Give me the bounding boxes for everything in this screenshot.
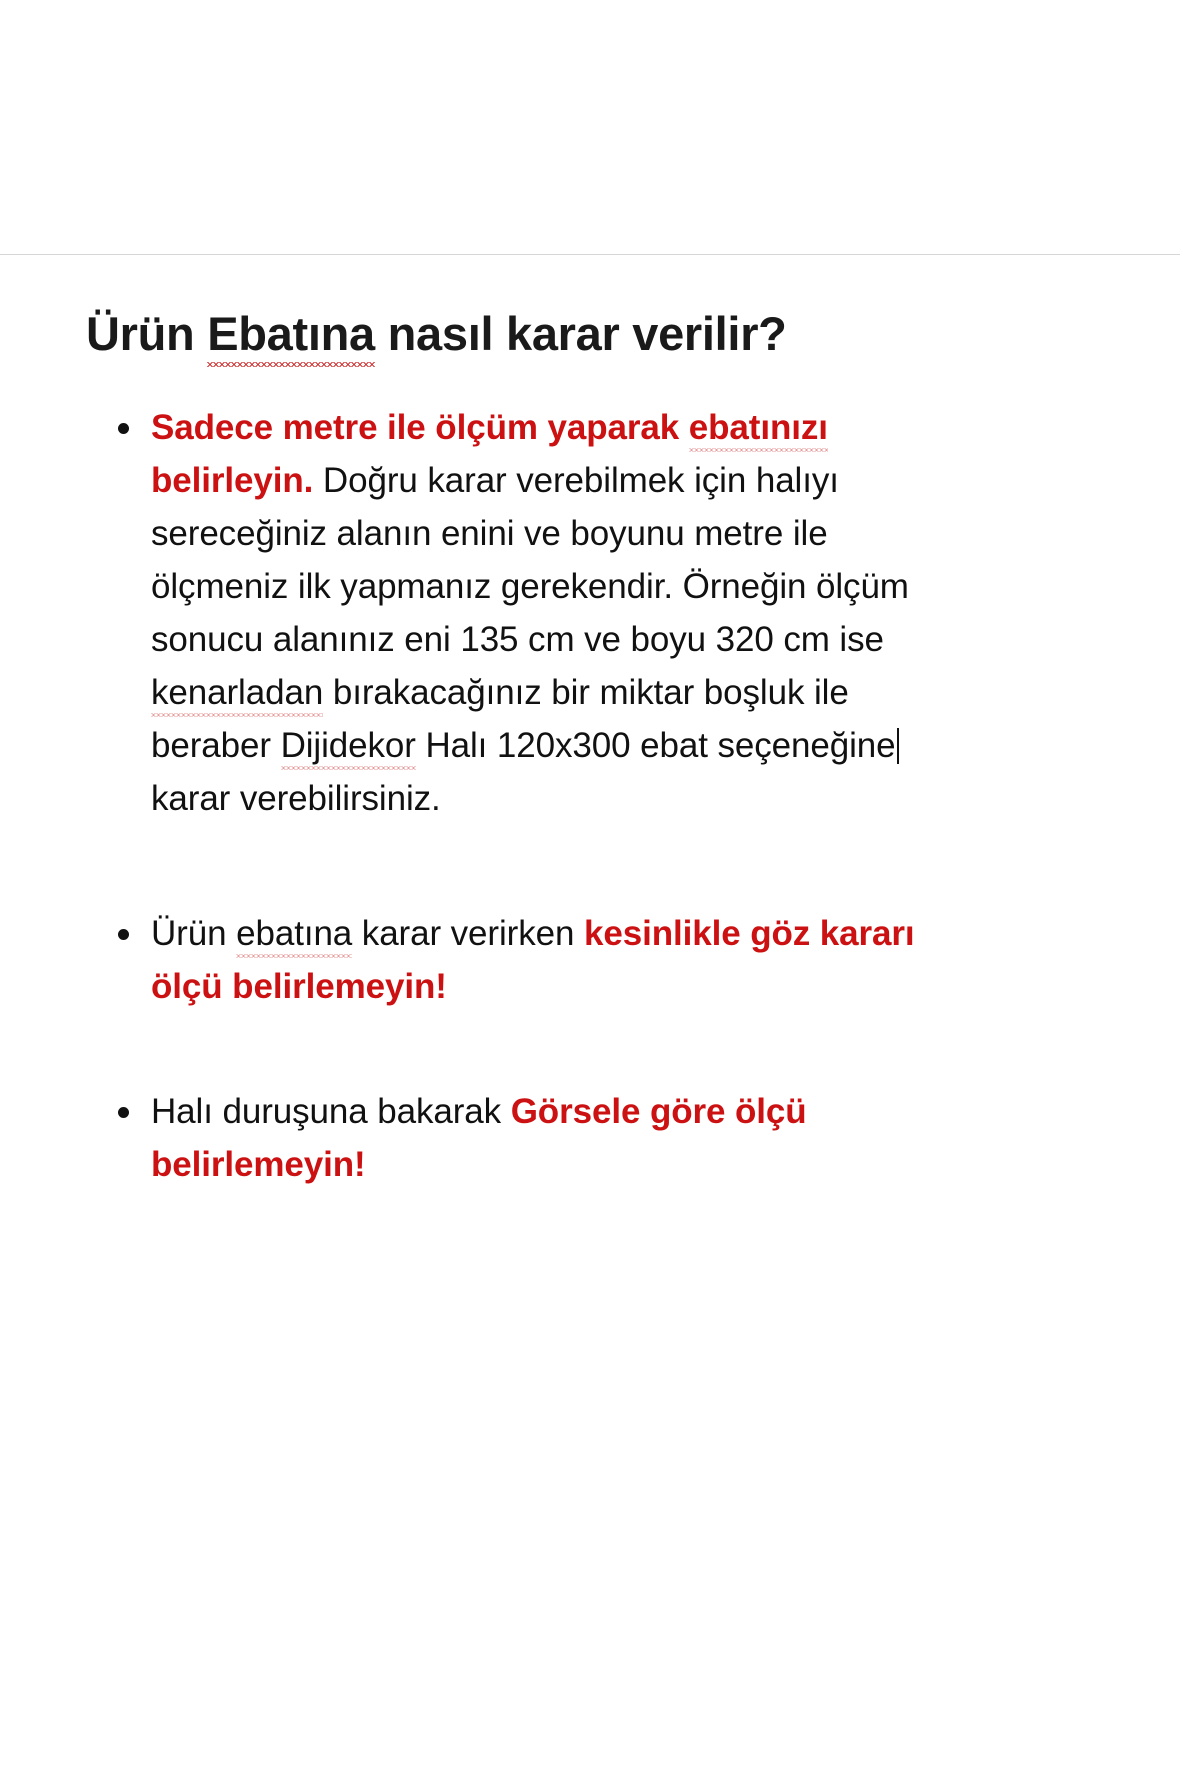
bullet1-misspelled-ebatinizi: ebatınızı: [689, 408, 828, 452]
list-item[interactable]: Ürün ebatına karar verirken kesinlikle g…: [110, 907, 951, 1013]
slide-content-area: Ürün Ebatına nasıl karar verilir? Sadece…: [0, 255, 1180, 1191]
bullet1-black-segment-3: Halı 120x300 ebat seçeneğine: [416, 726, 896, 765]
bullet1-misspelled-dijidekor: Dijidekor: [281, 726, 416, 770]
bullet3-black-segment-1: Halı duruşuna bakarak: [151, 1092, 511, 1131]
title-text-after: nasıl karar verilir?: [375, 307, 787, 360]
bullet2-black-segment-2: karar verirken: [352, 914, 584, 953]
list-item[interactable]: Sadece metre ile ölçüm yaparak ebatınızı…: [110, 401, 951, 825]
title-text-before: Ürün: [86, 307, 207, 360]
title-misspelled-word: Ebatına: [207, 307, 375, 367]
bullet1-red-segment-2: belirleyin.: [151, 461, 313, 500]
bullet2-black-segment-1: Ürün: [151, 914, 236, 953]
bullet1-black-segment-4: karar verebilirsiniz.: [151, 779, 441, 818]
bullet2-misspelled-ebatina: ebatına: [236, 914, 352, 958]
bullet-list: Sadece metre ile ölçüm yaparak ebatınızı…: [0, 401, 1180, 1191]
text-cursor-caret: [897, 728, 899, 764]
bullet1-red-segment-1: Sadece metre ile ölçüm yaparak: [151, 408, 689, 447]
list-item[interactable]: Halı duruşuna bakarak Görsele göre ölçü …: [110, 1085, 951, 1191]
bullet1-misspelled-kenarladan: kenarladan: [151, 673, 323, 717]
page-title: Ürün Ebatına nasıl karar verilir?: [86, 310, 1180, 357]
